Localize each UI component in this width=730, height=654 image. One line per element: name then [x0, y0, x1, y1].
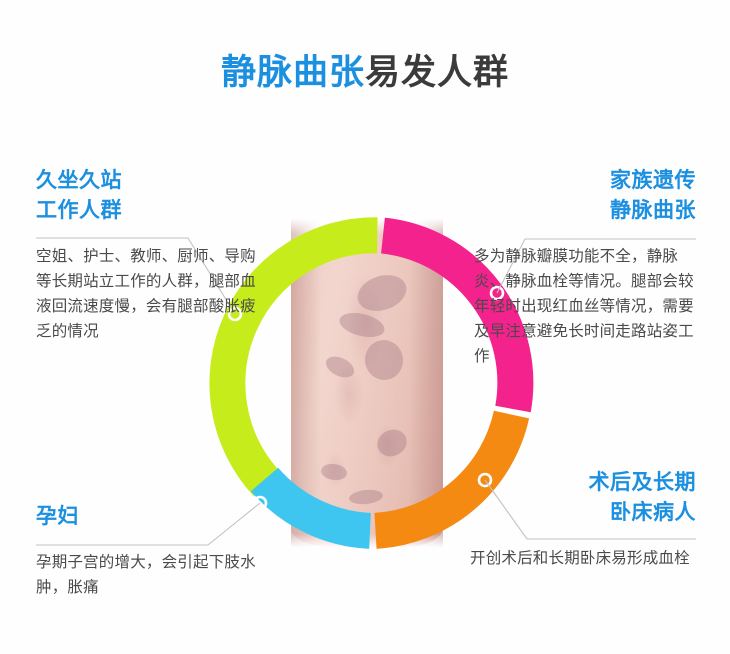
ring-segment-pregnant-women[interactable] [265, 480, 371, 531]
info-block-heading: 孕妇 [36, 502, 266, 532]
infographic-canvas: 静脉曲张易发人群 [0, 0, 730, 654]
heading-line-1: 术后及长期 [470, 468, 696, 498]
info-block-sedentary-standing: 久坐久站 工作人群 空姐、护士、教师、厨师、导购等长期站立工作的人群，腿部血液回… [36, 166, 256, 344]
info-block-pregnant-women: 孕妇 孕期子宫的增大，会引起下肢水肿，胀痛 [36, 502, 266, 600]
info-block-heading: 家族遗传 静脉曲张 [474, 166, 696, 226]
heading-line-1: 孕妇 [36, 502, 266, 532]
heading-line-1: 久坐久站 [36, 166, 256, 196]
info-block-body: 多为静脉瓣膜功能不全，静脉炎、静脉血栓等情况。腿部会较年轻时出现红血丝等情况，需… [474, 244, 696, 369]
info-block-heading: 久坐久站 工作人群 [36, 166, 256, 226]
info-block-body: 空姐、护士、教师、厨师、导购等长期站立工作的人群，腿部血液回流速度慢，会有腿部酸… [36, 244, 256, 344]
page-title-highlight: 静脉曲张 [221, 53, 365, 92]
heading-line-1: 家族遗传 [474, 166, 696, 196]
info-block-family-hereditary: 家族遗传 静脉曲张 多为静脉瓣膜功能不全，静脉炎、静脉血栓等情况。腿部会较年轻时… [474, 166, 696, 369]
info-block-post-surgery-bedridden: 术后及长期 卧床病人 开创术后和长期卧床易形成血栓 [470, 468, 696, 571]
heading-line-2: 静脉曲张 [474, 196, 696, 226]
info-block-body: 开创术后和长期卧床易形成血栓 [470, 546, 696, 571]
page-title: 静脉曲张易发人群 [0, 52, 730, 94]
info-block-heading: 术后及长期 卧床病人 [470, 468, 696, 528]
heading-line-2: 卧床病人 [470, 498, 696, 528]
page-title-rest: 易发人群 [365, 53, 509, 92]
heading-line-2: 工作人群 [36, 196, 256, 226]
info-block-body: 孕期子宫的增大，会引起下肢水肿，胀痛 [36, 550, 266, 600]
